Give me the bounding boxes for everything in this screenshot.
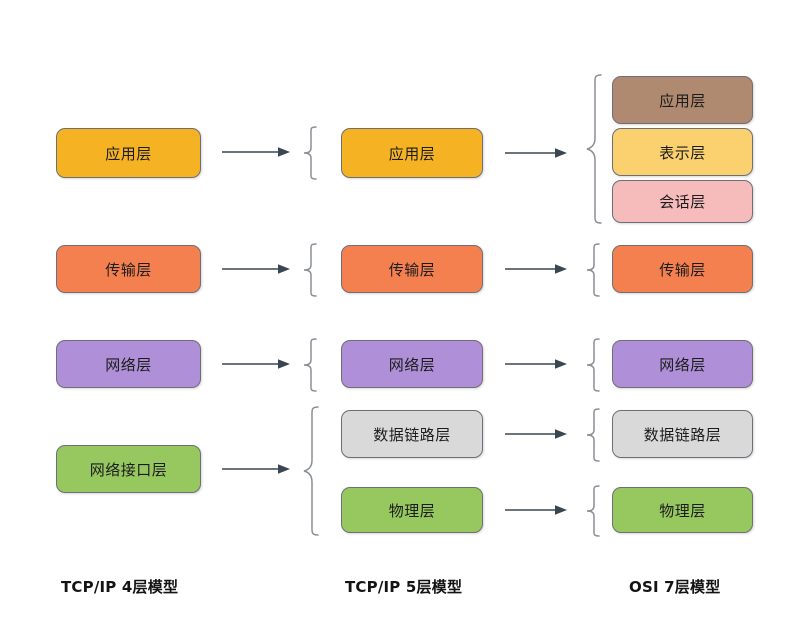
brace-network-interface-split-col2 bbox=[302, 406, 322, 536]
arrow-datalink-5to7 bbox=[505, 426, 567, 442]
layer-box-osi-network[interactable]: 网络层 bbox=[612, 340, 753, 388]
layer-box-tcpip4-transport[interactable]: 传输层 bbox=[56, 245, 201, 293]
arrow-network-4to5 bbox=[222, 356, 290, 372]
layer-box-tcpip4-network[interactable]: 网络层 bbox=[56, 340, 201, 388]
layer-box-tcpip4-application[interactable]: 应用层 bbox=[56, 128, 201, 178]
brace-transport-col2 bbox=[302, 243, 320, 297]
brace-network-col3 bbox=[585, 338, 603, 392]
layer-box-tcpip5-application[interactable]: 应用层 bbox=[341, 128, 483, 178]
caption-tcpip5-model: TCP/IP 5层模型 bbox=[345, 576, 462, 597]
arrow-application-5to7 bbox=[505, 145, 567, 161]
diagram-canvas: 应用层 传输层 网络层 网络接口层 bbox=[0, 0, 797, 627]
arrow-physical-5to7 bbox=[505, 502, 567, 518]
layer-box-osi-session[interactable]: 会话层 bbox=[612, 180, 753, 223]
arrow-application-4to5 bbox=[222, 144, 290, 160]
layer-box-tcpip5-network[interactable]: 网络层 bbox=[341, 340, 483, 388]
layer-box-tcpip4-network-interface[interactable]: 网络接口层 bbox=[56, 445, 201, 493]
brace-transport-col3 bbox=[585, 243, 603, 297]
caption-osi7-model: OSI 7层模型 bbox=[629, 576, 720, 597]
brace-application-col2 bbox=[302, 126, 320, 180]
arrow-network-5to7 bbox=[505, 356, 567, 372]
layer-box-tcpip5-datalink[interactable]: 数据链路层 bbox=[341, 410, 483, 458]
layer-box-osi-presentation[interactable]: 表示层 bbox=[612, 128, 753, 176]
arrow-network-interface-4to5 bbox=[222, 461, 290, 477]
brace-application-split-col3 bbox=[585, 74, 605, 224]
layer-box-osi-physical[interactable]: 物理层 bbox=[612, 487, 753, 533]
brace-datalink-col3 bbox=[585, 408, 603, 462]
arrow-transport-5to7 bbox=[505, 261, 567, 277]
brace-physical-col3 bbox=[585, 485, 603, 537]
arrow-transport-4to5 bbox=[222, 261, 290, 277]
layer-box-osi-transport[interactable]: 传输层 bbox=[612, 245, 753, 293]
layer-box-osi-application[interactable]: 应用层 bbox=[612, 76, 753, 124]
layer-box-tcpip5-physical[interactable]: 物理层 bbox=[341, 487, 483, 533]
layer-box-osi-datalink[interactable]: 数据链路层 bbox=[612, 410, 753, 458]
caption-tcpip4-model: TCP/IP 4层模型 bbox=[61, 576, 178, 597]
brace-network-col2 bbox=[302, 338, 320, 392]
layer-box-tcpip5-transport[interactable]: 传输层 bbox=[341, 245, 483, 293]
